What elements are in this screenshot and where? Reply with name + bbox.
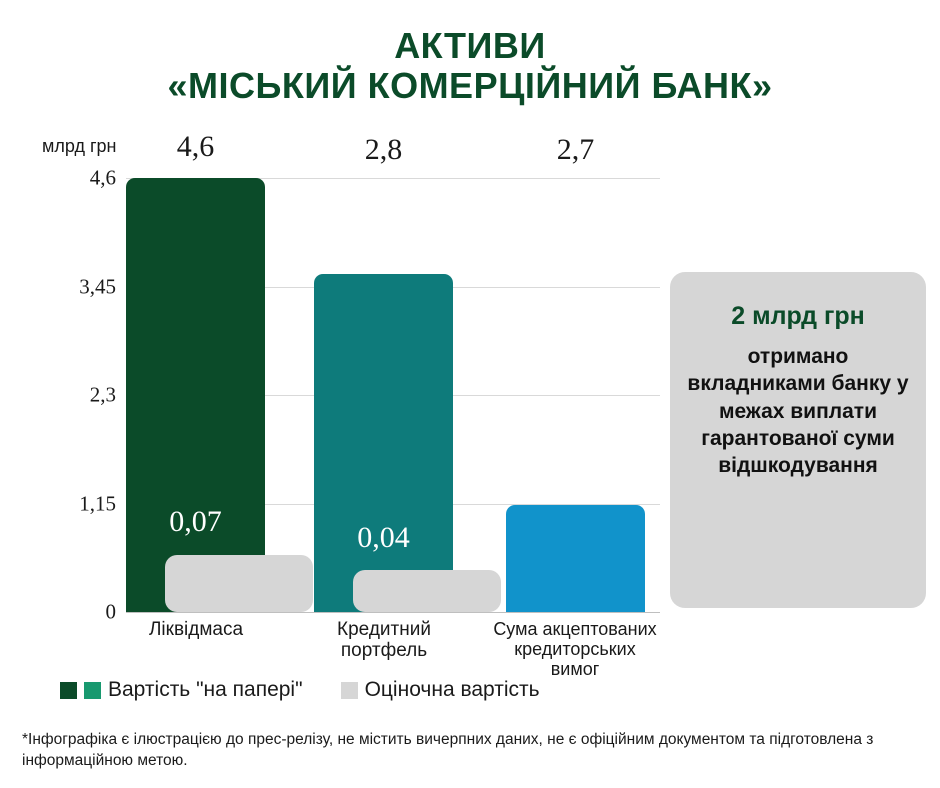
- bar-label-estimate-0: 0,07: [126, 505, 265, 539]
- legend-swatch-gray-icon: [341, 682, 358, 699]
- y-tick-2: 2,3: [6, 383, 116, 408]
- bar-label-estimate-1: 0,04: [314, 521, 453, 555]
- legend-item-paper[interactable]: Вартість "на папері": [60, 678, 303, 702]
- category-label-2-line-1: кредиторських: [514, 639, 635, 659]
- bar-paper-2[interactable]: [506, 505, 645, 612]
- y-tick-1: 1,15: [6, 491, 116, 516]
- category-label-0-line-0: Ліквідмаса: [149, 619, 243, 640]
- bar-label-paper-2: 2,7: [506, 133, 645, 167]
- footnote: *Інфографіка є ілюстрацією до прес-реліз…: [22, 730, 922, 772]
- bar-paper-1[interactable]: [314, 274, 453, 612]
- y-axis-ticks: 4,6 3,45 2,3 1,15 0: [0, 178, 116, 612]
- title-line-1: АКТИВИ: [0, 26, 940, 66]
- bar-paper-0[interactable]: [126, 178, 265, 612]
- bar-label-paper-0: 4,6: [126, 130, 265, 164]
- category-label-1: Кредитний портфель: [284, 619, 484, 662]
- legend-swatch-teal-icon: [84, 682, 101, 699]
- plot-area: 4,6 0,07 2,8 0,04 2,7: [126, 178, 660, 612]
- y-tick-3: 3,45: [6, 274, 116, 299]
- chart-legend: Вартість "на папері" Оціночна вартість: [60, 678, 540, 702]
- y-tick-4: 4,6: [6, 166, 116, 191]
- bar-estimate-0[interactable]: [165, 555, 313, 612]
- page-title: АКТИВИ «МІСЬКИЙ КОМЕРЦІЙНИЙ БАНК»: [0, 26, 940, 105]
- bar-chart: млрд грн 4,6 3,45 2,3 1,15 0 4,6 0,07 2,…: [0, 130, 670, 690]
- category-label-0: Ліквідмаса: [96, 619, 296, 640]
- legend-label-estimate: Оціночна вартість: [365, 678, 540, 702]
- title-line-2: «МІСЬКИЙ КОМЕРЦІЙНИЙ БАНК»: [0, 66, 940, 106]
- category-label-1-line-0: Кредитний: [337, 619, 431, 640]
- legend-label-paper: Вартість "на папері": [108, 678, 303, 702]
- bar-estimate-1[interactable]: [353, 570, 501, 612]
- category-label-2-line-2: вимог: [551, 659, 600, 679]
- callout-body-text: отримано вкладниками банку у межах випла…: [686, 343, 910, 479]
- callout-amount: 2 млрд грн: [686, 302, 910, 331]
- callout-box: 2 млрд грн отримано вкладниками банку у …: [670, 272, 926, 608]
- x-axis-baseline: [126, 612, 660, 613]
- category-label-2-line-0: Сума акцептованих: [493, 619, 656, 639]
- category-label-1-line-1: портфель: [341, 640, 427, 661]
- legend-item-estimate[interactable]: Оціночна вартість: [341, 678, 540, 702]
- bar-label-paper-1: 2,8: [314, 133, 453, 167]
- y-axis-unit-label: млрд грн: [42, 136, 117, 157]
- legend-swatch-dark-green-icon: [60, 682, 77, 699]
- category-label-2: Сума акцептованих кредиторських вимог: [470, 619, 680, 679]
